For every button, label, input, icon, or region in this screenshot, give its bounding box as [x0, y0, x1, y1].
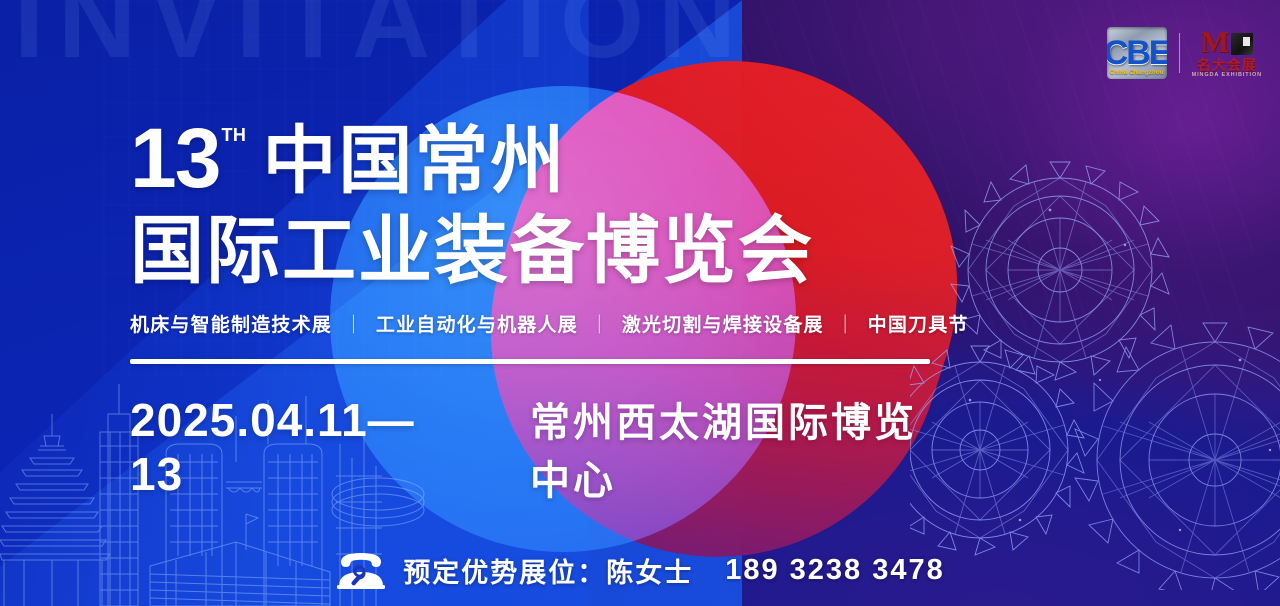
banner-content: 13 TH 中国常州 国际工业装备博览会 机床与智能制造技术展 ｜ 工业自动化与… [130, 118, 950, 506]
edition-number: 13 [130, 118, 219, 199]
date-venue-row: 2025.04.11—13 常州西太湖国际博览中心 [130, 390, 950, 506]
mingda-logo-mark: M [1201, 27, 1253, 57]
cbe-logo[interactable]: CBE China Changzhou [1107, 27, 1167, 79]
letter-m-glyph: M [1201, 29, 1229, 58]
subtitle-separator-2: ｜ [586, 314, 614, 336]
logo-square-block [1231, 33, 1253, 55]
subtitle-separator-3: ｜ [832, 314, 860, 336]
title-first-line: 13 TH 中国常州 [130, 118, 950, 202]
subtitle-segment-3: 激光切割与焊接设备展 [622, 314, 824, 336]
invitation-watermark: INVITATION [14, 0, 750, 74]
event-dates: 2025.04.11—13 [130, 393, 430, 501]
partner-logos: CBE China Changzhou M 名大会展 MINGDA EXHIBI… [1107, 24, 1262, 82]
title-line-1: 中国常州 [262, 124, 566, 198]
subtitle-separator-1: ｜ [340, 314, 368, 336]
horizontal-divider [130, 359, 930, 364]
subtitle-row: 机床与智能制造技术展 ｜ 工业自动化与机器人展 ｜ 激光切割与焊接设备展 ｜ 中… [130, 310, 950, 337]
subtitle-segment-2: 工业自动化与机器人展 [376, 314, 578, 336]
mingda-exhibition-logo[interactable]: M 名大会展 MINGDA EXHIBITION [1192, 27, 1262, 79]
mingda-logo-chinese: 名大会展 [1197, 58, 1257, 72]
title-line-2: 国际工业装备博览会 [130, 214, 950, 288]
logo-divider [1179, 33, 1180, 73]
wireframe-gears-graphic [910, 150, 1280, 590]
subtitle-segment-4: 中国刀具节 [868, 314, 969, 336]
subtitle-segment-1: 机床与智能制造技术展 [130, 314, 332, 336]
contact-bar: 预定优势展位：陈女士 189 3238 3478 [0, 550, 1280, 590]
edition-suffix: TH [221, 126, 246, 144]
contact-phone-number[interactable]: 189 3238 3478 [725, 554, 945, 587]
event-venue: 常州西太湖国际博览中心 [530, 390, 950, 506]
cbe-logo-subtext: China Changzhou [1107, 70, 1167, 76]
contact-label: 预定优势展位：陈女士 [403, 551, 693, 590]
telephone-icon [335, 550, 387, 590]
mingda-logo-english: MINGDA EXHIBITION [1192, 73, 1262, 79]
cbe-logo-wordmark: CBE [1107, 36, 1167, 70]
exhibition-banner: INVITATION [0, 0, 1280, 606]
